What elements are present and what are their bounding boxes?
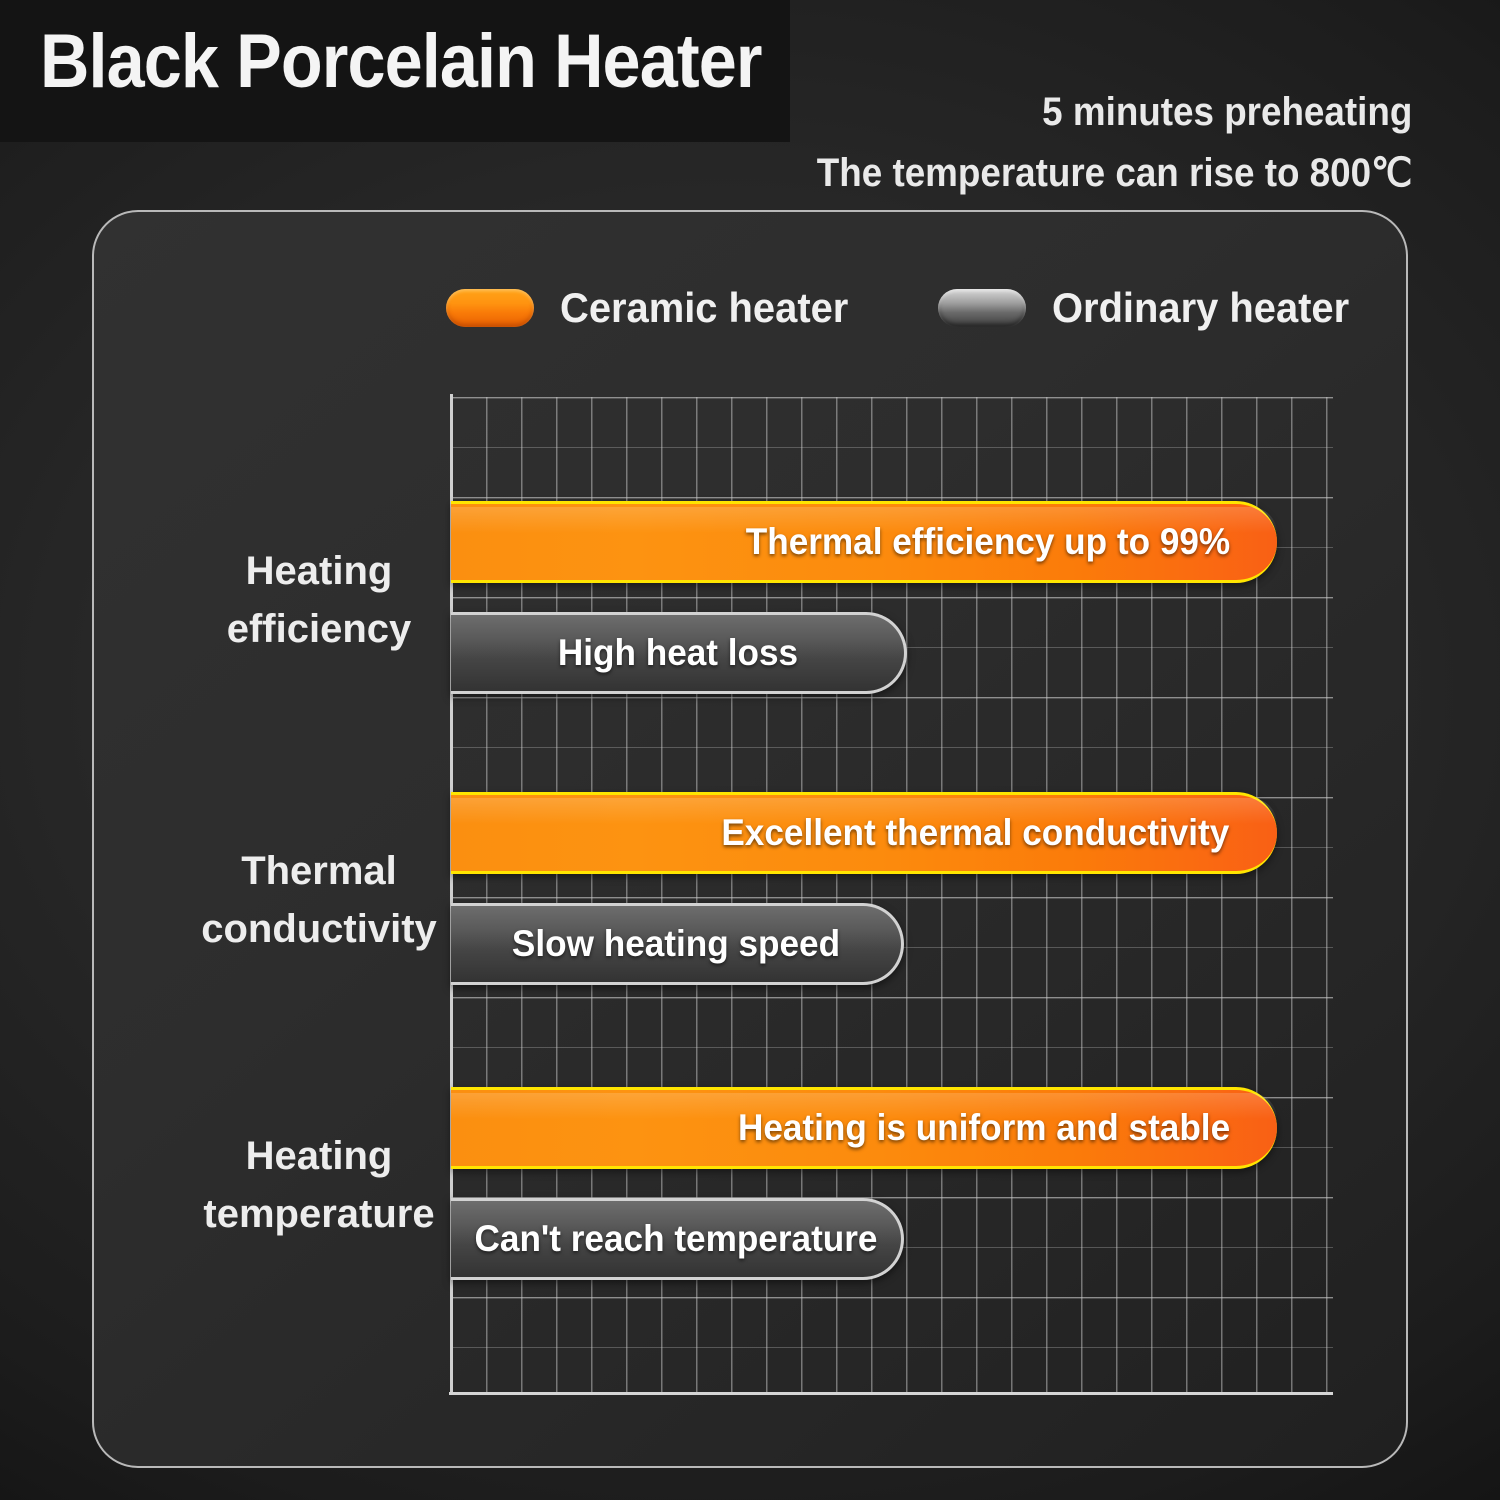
bar-ordinary-heating-efficiency: High heat loss bbox=[451, 612, 907, 694]
legend-label-ceramic: Ceramic heater bbox=[560, 284, 848, 332]
legend-label-ordinary: Ordinary heater bbox=[1052, 284, 1349, 332]
legend-item-ceramic: Ceramic heater bbox=[446, 284, 864, 332]
legend-item-ordinary: Ordinary heater bbox=[938, 284, 1365, 332]
bar-ordinary-thermal-conductivity: Slow heating speed bbox=[451, 903, 904, 985]
bar-label-ordinary-conductivity: Slow heating speed bbox=[512, 923, 840, 965]
bar-label-ordinary-efficiency: High heat loss bbox=[557, 632, 797, 674]
legend-swatch-ordinary-icon bbox=[938, 289, 1026, 327]
chart-plot-area: Thermal efficiency up to 99% High heat l… bbox=[451, 397, 1333, 1393]
page-title: Black Porcelain Heater bbox=[40, 24, 762, 100]
category-line: Heating bbox=[154, 1127, 484, 1185]
category-line: Thermal bbox=[154, 842, 484, 900]
bar-ceramic-thermal-conductivity: Excellent thermal conductivity bbox=[451, 792, 1277, 874]
bar-label-ceramic-efficiency: Thermal efficiency up to 99% bbox=[746, 521, 1230, 563]
category-line: Heating bbox=[154, 542, 484, 600]
category-label-heating-efficiency: Heating efficiency bbox=[154, 542, 484, 658]
bar-label-ordinary-temperature: Can't reach temperature bbox=[475, 1218, 878, 1260]
category-label-thermal-conductivity: Thermal conductivity bbox=[154, 842, 484, 958]
infographic-canvas: Black Porcelain Heater 5 minutes preheat… bbox=[0, 0, 1500, 1500]
chart-legend: Ceramic heater Ordinary heater bbox=[94, 284, 1406, 336]
category-label-heating-temperature: Heating temperature bbox=[154, 1127, 484, 1243]
category-line: temperature bbox=[154, 1185, 484, 1243]
chart-axis-x bbox=[449, 1392, 1333, 1395]
bar-label-ceramic-temperature: Heating is uniform and stable bbox=[738, 1107, 1230, 1149]
bar-ceramic-heating-temperature: Heating is uniform and stable bbox=[451, 1087, 1277, 1169]
header-subtitle-preheating: 5 minutes preheating bbox=[1042, 90, 1412, 135]
legend-swatch-ceramic-icon bbox=[446, 289, 534, 327]
header-subtitle-temperature: The temperature can rise to 800℃ bbox=[816, 150, 1412, 196]
bar-label-ceramic-conductivity: Excellent thermal conductivity bbox=[722, 812, 1230, 854]
comparison-panel: Ceramic heater Ordinary heater Heating e… bbox=[92, 210, 1408, 1468]
category-line: conductivity bbox=[154, 900, 484, 958]
bar-ordinary-heating-temperature: Can't reach temperature bbox=[451, 1198, 904, 1280]
category-line: efficiency bbox=[154, 600, 484, 658]
bar-ceramic-heating-efficiency: Thermal efficiency up to 99% bbox=[451, 501, 1277, 583]
